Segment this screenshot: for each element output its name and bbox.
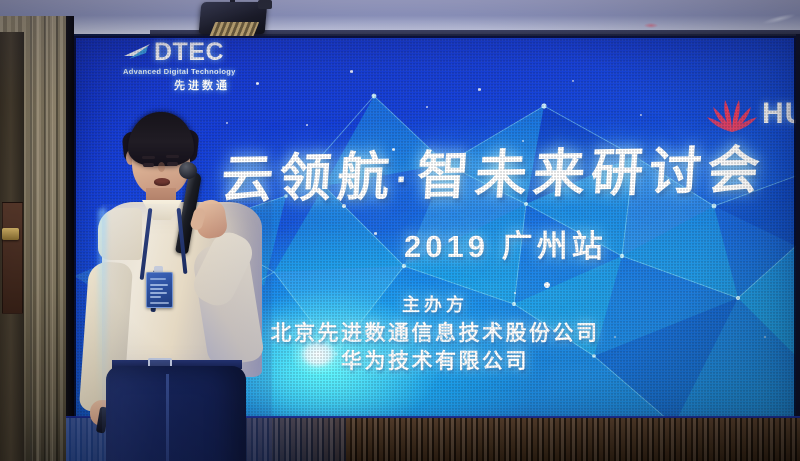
conference-photo: DTEC Advanced Digital Technology 先进数通 xyxy=(0,0,800,461)
mouth xyxy=(154,178,170,186)
badge-text-line xyxy=(150,302,169,304)
right-wall xyxy=(796,34,800,461)
wall-edge xyxy=(66,16,74,461)
speaker xyxy=(96,112,266,461)
badge-text-line xyxy=(150,296,161,298)
curtain-fold xyxy=(56,16,58,461)
curtain-highlight xyxy=(36,16,39,461)
door-handle[interactable] xyxy=(2,228,19,240)
curtain-highlight xyxy=(50,16,53,461)
ceiling xyxy=(0,0,800,34)
trousers xyxy=(106,366,246,461)
hair xyxy=(128,112,194,166)
left-wall xyxy=(0,16,70,461)
badge-text-line xyxy=(150,292,167,294)
badge-text-line xyxy=(150,278,166,280)
badge-text-line xyxy=(150,284,168,286)
eyebrow-right xyxy=(166,155,179,158)
door[interactable] xyxy=(0,32,24,461)
stage-light-knob xyxy=(258,0,272,9)
curtain-fold xyxy=(30,16,32,461)
ceiling-spot-light xyxy=(644,23,658,28)
eyebrow-left xyxy=(142,156,155,159)
eye-left xyxy=(143,163,154,167)
curtain-fold xyxy=(44,16,46,461)
badge xyxy=(146,272,173,308)
nose xyxy=(158,162,165,172)
badge-text-line xyxy=(150,288,163,290)
trouser-crease xyxy=(166,374,169,461)
door-panel xyxy=(2,202,23,314)
eye-right xyxy=(167,162,178,166)
stage-light xyxy=(196,0,274,40)
shoulder-left xyxy=(98,208,142,260)
